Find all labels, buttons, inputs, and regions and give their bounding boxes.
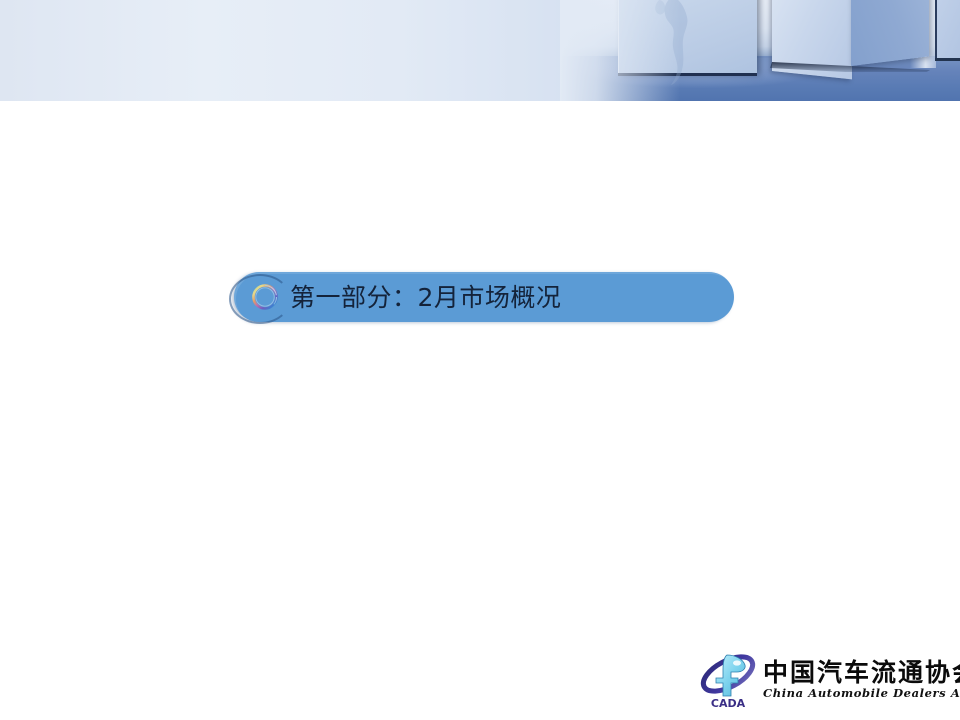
rainbow-ring-icon [250, 282, 280, 312]
banner-left-field [0, 0, 640, 101]
presentation-slide: 第一部分：2月市场概况 [0, 0, 960, 720]
cada-emblem-icon: CADA [697, 648, 759, 710]
section-title-text: 第一部分：2月市场概况 [290, 285, 561, 310]
banner-cube-scene [560, 0, 960, 101]
logo-name-cn: 中国汽车流通协会 [763, 660, 960, 686]
logo-name-en: China Automobile Dealers Association [763, 687, 960, 700]
organization-logo: CADA 中国汽车流通协会 China Automobile Dealers A… [697, 646, 955, 712]
cube-partial-icon [935, 0, 960, 58]
cube-3d-icon-right-face [851, 0, 929, 66]
header-banner [0, 0, 960, 101]
cada-abbr-text: CADA [711, 697, 746, 710]
scene-fade-overlay [560, 0, 680, 101]
logo-text-block: 中国汽车流通协会 China Automobile Dealers Associ… [759, 658, 960, 700]
section-title-banner[interactable]: 第一部分：2月市场概况 [234, 272, 734, 322]
